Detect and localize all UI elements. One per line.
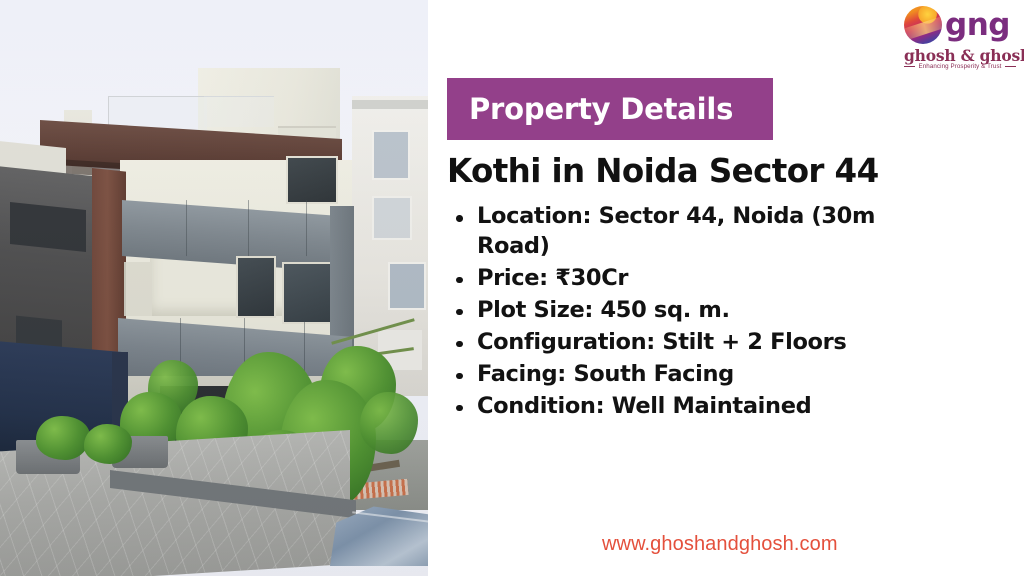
neighbour-ledge — [352, 100, 428, 109]
logo-row: gng — [904, 6, 1010, 44]
company-logo[interactable]: gng ghosh & ghosh Enhancing Prosperity &… — [904, 4, 1016, 74]
cladding-seam — [186, 200, 187, 256]
list-item: Condition: Well Maintained — [449, 392, 939, 422]
list-item: Price: ₹30Cr — [449, 264, 939, 294]
list-item: Configuration: Stilt + 2 Floors — [449, 328, 939, 358]
logo-tagline-row: Enhancing Prosperity & Trust — [904, 63, 1016, 70]
shrub — [360, 392, 418, 454]
facade-window — [236, 256, 276, 318]
section-banner: Property Details — [447, 78, 773, 140]
list-item: Location: Sector 44, Noida (30m Road) — [449, 202, 939, 262]
property-details-list: Location: Sector 44, Noida (30m Road) Pr… — [449, 202, 939, 423]
shrub — [84, 424, 132, 464]
cladding-seam — [306, 200, 307, 256]
property-listing-slide: gng ghosh & ghosh Enhancing Prosperity &… — [0, 0, 1024, 576]
gng-circle-logo-icon — [904, 6, 942, 44]
list-item: Plot Size: 450 sq. m. — [449, 296, 939, 326]
property-photo — [0, 0, 428, 576]
logo-abbreviation: gng — [945, 10, 1010, 41]
facade-window — [124, 262, 152, 316]
side-window — [10, 202, 86, 252]
tagline-rule-right — [1005, 66, 1016, 67]
shrub — [36, 416, 90, 460]
upper-window — [286, 156, 338, 204]
cladding-seam — [248, 200, 249, 256]
property-photo-panel — [0, 0, 428, 576]
details-panel: gng ghosh & ghosh Enhancing Prosperity &… — [428, 0, 1024, 576]
neighbour-window — [372, 130, 410, 180]
page-title: Kothi in Noida Sector 44 — [447, 152, 879, 190]
list-item: Facing: South Facing — [449, 360, 939, 390]
company-tagline: Enhancing Prosperity & Trust — [919, 63, 1002, 70]
neighbour-window — [372, 196, 412, 240]
glass-railing — [204, 96, 274, 127]
section-banner-label: Property Details — [469, 92, 733, 126]
tagline-rule-left — [904, 66, 915, 67]
website-url[interactable]: www.ghoshandghosh.com — [602, 533, 838, 556]
neighbour-window — [388, 262, 426, 310]
